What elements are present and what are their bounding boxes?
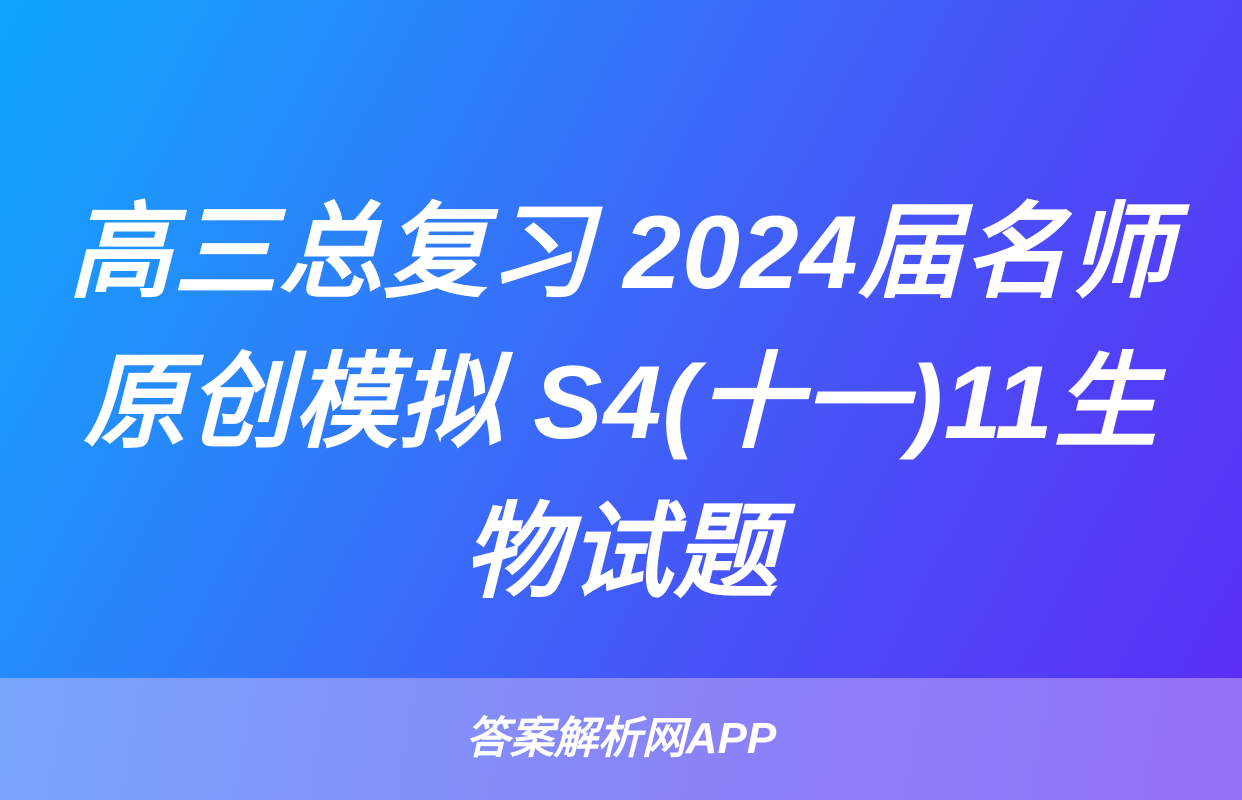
footer-branding-band: 答案解析网APP [0, 678, 1242, 800]
title-line-2: 原创模拟 S4(十一)11生 [60, 328, 1182, 478]
poster-canvas: 高三总复习 2024届名师 原创模拟 S4(十一)11生 物试题 答案解析网AP… [0, 0, 1242, 800]
app-brand-label: 答案解析网APP [466, 715, 776, 763]
title-line-3: 物试题 [60, 478, 1182, 628]
page-title: 高三总复习 2024届名师 原创模拟 S4(十一)11生 物试题 [0, 178, 1242, 628]
title-line-1: 高三总复习 2024届名师 [60, 178, 1182, 328]
